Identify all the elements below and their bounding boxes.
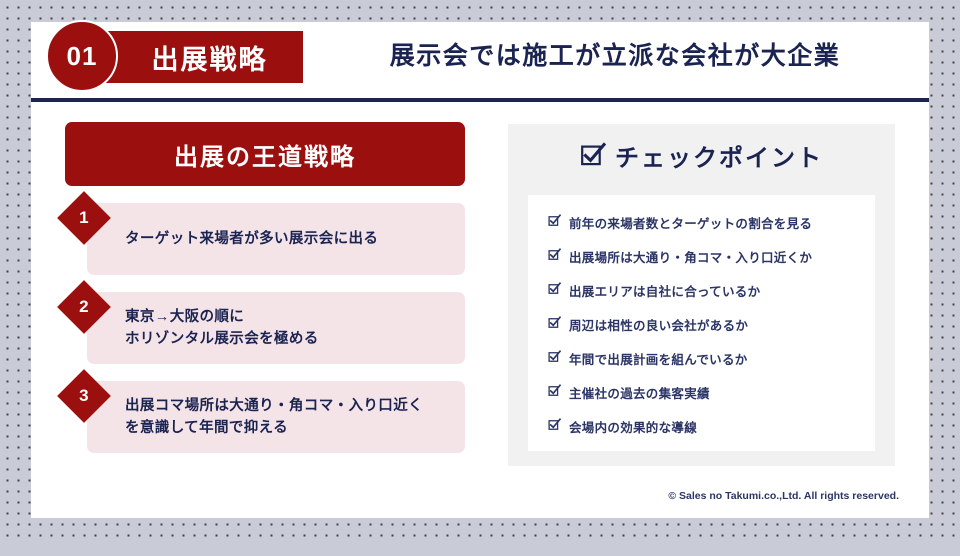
checklist-item-label: 年間で出展計画を組んでいるか	[569, 349, 748, 368]
strategy-panel-heading: 出展の王道戦略	[65, 122, 465, 186]
checkpoint-heading-label: チェックポイント	[615, 138, 823, 173]
checklist-item-label: 前年の来場者数とターゲットの割合を見る	[569, 213, 812, 232]
slide-card: 出展戦略 01 展示会では施工が立派な会社が大企業 出展の王道戦略 ターゲット来…	[31, 22, 929, 518]
checklist-item: 会場内の効果的な導線	[548, 417, 855, 436]
checklist-item: 出展エリアは自社に合っているか	[548, 281, 855, 300]
checklist-item: 出展場所は大通り・角コマ・入り口近くか	[548, 247, 855, 266]
strategy-item-3-line-1: 出展コマ場所は大通り・角コマ・入り口近く	[125, 395, 453, 417]
strategy-item-3: 出展コマ場所は大通り・角コマ・入り口近く を意識して年間で抑える 3	[65, 381, 465, 453]
section-number-badge: 01	[46, 20, 118, 92]
checklist-item: 周辺は相性の良い会社があるか	[548, 315, 855, 334]
checkbox-checked-icon	[548, 418, 561, 431]
checkbox-checked-icon	[548, 282, 561, 295]
checkbox-checked-icon	[580, 142, 606, 168]
strategy-item-1-number: 1	[79, 208, 88, 228]
copyright-text: © Sales no Takumi.co.,Ltd. All rights re…	[668, 490, 899, 502]
strategy-item-3-box: 出展コマ場所は大通り・角コマ・入り口近く を意識して年間で抑える	[87, 381, 465, 453]
checkbox-checked-icon	[548, 316, 561, 329]
strategy-item-2-box: 東京→大阪の順に ホリゾンタル展示会を極める	[87, 292, 465, 364]
strategy-item-3-number: 3	[79, 386, 88, 406]
checkbox-checked-icon	[548, 384, 561, 397]
checklist-item: 主催社の過去の集客実績	[548, 383, 855, 402]
checklist-item-label: 会場内の効果的な導線	[569, 417, 697, 436]
checkpoint-panel: チェックポイント 前年の来場者数とターゲットの割合を見る 出展場所は大通り・角コ…	[508, 124, 895, 466]
page-title: 展示会では施工が立派な会社が大企業	[331, 36, 899, 72]
checklist-item-label: 周辺は相性の良い会社があるか	[569, 315, 748, 334]
checkpoint-panel-heading: チェックポイント	[508, 124, 895, 186]
section-title: 出展戦略	[117, 31, 302, 83]
checklist: 前年の来場者数とターゲットの割合を見る 出展場所は大通り・角コマ・入り口近くか …	[528, 195, 875, 451]
strategy-item-2-line-1: 東京→大阪の順に	[125, 306, 453, 328]
checkbox-checked-icon	[548, 214, 561, 227]
strategy-panel: 出展の王道戦略 ターゲット来場者が多い展示会に出る 1 東京→大阪の順に ホリゾ…	[65, 122, 465, 453]
checklist-item-label: 出展エリアは自社に合っているか	[569, 281, 760, 300]
checklist-item-label: 主催社の過去の集客実績	[569, 383, 710, 402]
checkbox-checked-icon	[548, 248, 561, 261]
checklist-item: 前年の来場者数とターゲットの割合を見る	[548, 213, 855, 232]
strategy-item-1-line-1: ターゲット来場者が多い展示会に出る	[125, 228, 453, 250]
slide-body: 出展の王道戦略 ターゲット来場者が多い展示会に出る 1 東京→大阪の順に ホリゾ…	[31, 102, 929, 518]
strategy-item-2: 東京→大阪の順に ホリゾンタル展示会を極める 2	[65, 292, 465, 364]
slide-header: 出展戦略 01 展示会では施工が立派な会社が大企業	[31, 22, 929, 100]
checkbox-checked-icon	[548, 350, 561, 363]
checklist-item: 年間で出展計画を組んでいるか	[548, 349, 855, 368]
strategy-item-2-line-2: ホリゾンタル展示会を極める	[125, 328, 453, 350]
strategy-item-2-number: 2	[79, 297, 88, 317]
strategy-item-1-box: ターゲット来場者が多い展示会に出る	[87, 203, 465, 275]
strategy-item-3-line-2: を意識して年間で抑える	[125, 417, 453, 439]
checklist-item-label: 出展場所は大通り・角コマ・入り口近くか	[569, 247, 812, 266]
strategy-item-1: ターゲット来場者が多い展示会に出る 1	[65, 203, 465, 275]
